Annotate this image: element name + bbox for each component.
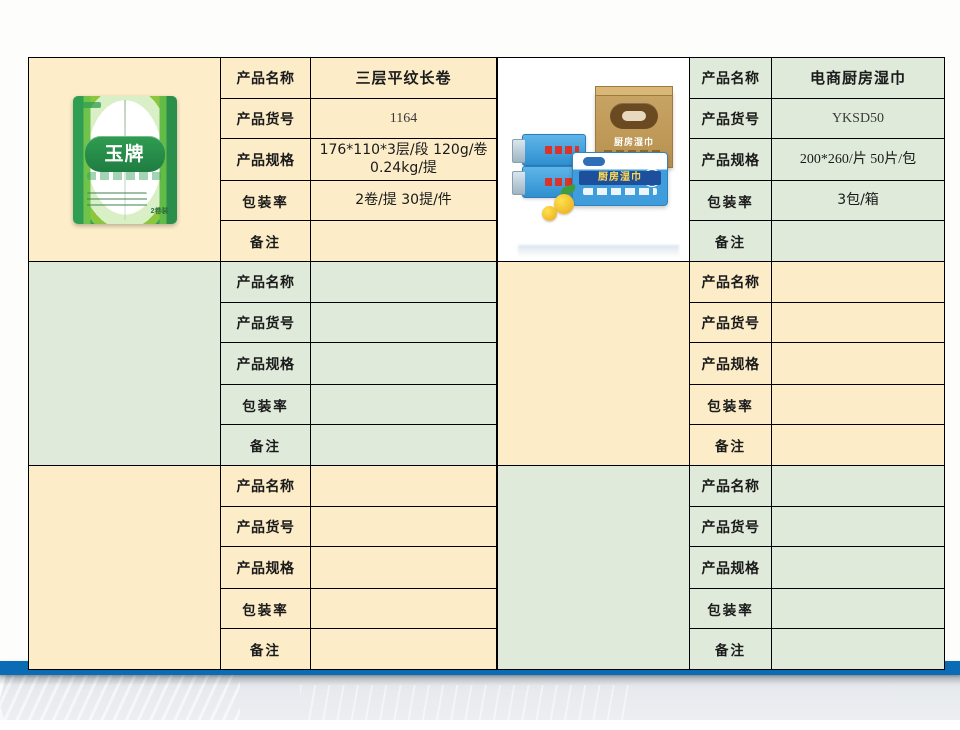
lemon-icon bbox=[554, 194, 574, 214]
value-product-code[interactable] bbox=[772, 303, 945, 343]
value-product-code[interactable] bbox=[772, 507, 945, 547]
pack-subtitle-stripe bbox=[87, 172, 163, 180]
label-packing-rate: 包装率 bbox=[221, 589, 311, 629]
label-product-spec: 产品规格 bbox=[690, 139, 772, 181]
value-product-name[interactable] bbox=[311, 466, 497, 507]
wipes-pack-icon: 厨房湿巾 bbox=[572, 152, 668, 206]
label-packing-rate: 包装率 bbox=[690, 385, 772, 425]
label-product-name: 产品名称 bbox=[221, 58, 311, 99]
label-remark: 备注 bbox=[221, 629, 311, 670]
label-product-name: 产品名称 bbox=[690, 58, 772, 99]
label-product-code: 产品货号 bbox=[221, 507, 311, 547]
label-packing-rate: 包装率 bbox=[221, 385, 311, 425]
value-remark[interactable] bbox=[311, 629, 497, 670]
label-remark: 备注 bbox=[690, 425, 772, 466]
value-packing-rate[interactable] bbox=[772, 589, 945, 629]
value-packing-rate[interactable] bbox=[772, 385, 945, 425]
carton-lid bbox=[595, 86, 673, 96]
carton-label-text: 厨房湿巾 bbox=[596, 135, 672, 148]
table-row: 产品名称 bbox=[29, 262, 497, 303]
label-product-name: 产品名称 bbox=[690, 262, 772, 303]
label-remark: 备注 bbox=[221, 221, 311, 262]
pack-subtitle-stripe bbox=[583, 188, 657, 195]
value-product-code[interactable] bbox=[311, 303, 497, 343]
value-product-code[interactable]: YKSD50 bbox=[772, 99, 945, 139]
pack-count-text: 2卷装 bbox=[151, 206, 169, 216]
label-product-spec: 产品规格 bbox=[221, 343, 311, 385]
value-packing-rate[interactable] bbox=[311, 589, 497, 629]
label-packing-rate: 包装率 bbox=[690, 589, 772, 629]
table-row: 厨房湿巾 厨房湿巾 产品名称 bbox=[498, 58, 945, 99]
pack-brand-badge bbox=[583, 157, 605, 166]
toilet-paper-pack-photo: 玉牌 2卷装 bbox=[29, 58, 220, 261]
value-remark[interactable] bbox=[772, 629, 945, 670]
pack-brand-badge: 玉牌 bbox=[85, 136, 165, 172]
label-product-name: 产品名称 bbox=[690, 466, 772, 507]
label-product-code: 产品货号 bbox=[221, 99, 311, 139]
label-packing-rate: 包装率 bbox=[690, 181, 772, 221]
value-product-name[interactable]: 电商厨房湿巾 bbox=[772, 58, 945, 99]
value-product-spec[interactable] bbox=[311, 547, 497, 589]
value-product-name[interactable] bbox=[772, 466, 945, 507]
carton-brand-badge bbox=[610, 103, 658, 129]
value-product-name[interactable]: 三层平纹长卷 bbox=[311, 58, 497, 99]
label-product-spec: 产品规格 bbox=[690, 343, 772, 385]
kitchen-wet-wipes-photo: 厨房湿巾 厨房湿巾 bbox=[498, 58, 689, 261]
label-remark: 备注 bbox=[690, 629, 772, 670]
value-product-code[interactable]: 1164 bbox=[311, 99, 497, 139]
value-product-spec[interactable] bbox=[772, 343, 945, 385]
label-remark: 备注 bbox=[690, 221, 772, 262]
label-product-name: 产品名称 bbox=[221, 466, 311, 507]
table-row: 产品名称 bbox=[498, 466, 945, 507]
pack-title-text: 厨房湿巾 bbox=[579, 171, 661, 185]
label-product-spec: 产品规格 bbox=[221, 139, 311, 181]
label-packing-rate: 包装率 bbox=[221, 181, 311, 221]
photo-reflection bbox=[518, 245, 679, 257]
value-remark[interactable] bbox=[311, 221, 497, 262]
table-row: 产品名称 bbox=[498, 262, 945, 303]
product-image-cell-left-3[interactable] bbox=[29, 466, 221, 670]
value-product-spec[interactable] bbox=[311, 343, 497, 385]
product-image-cell-left-2[interactable] bbox=[29, 262, 221, 466]
value-product-name[interactable] bbox=[311, 262, 497, 303]
right-product-table: 厨房湿巾 厨房湿巾 产品名称 bbox=[497, 57, 945, 670]
left-product-table: 玉牌 2卷装 产品名称 三层平纹长卷 产品货号 1164 产品规格 176*11… bbox=[28, 57, 497, 670]
value-remark[interactable] bbox=[772, 425, 945, 466]
brand-logo-text: 玉牌 bbox=[85, 136, 165, 172]
value-product-spec[interactable] bbox=[772, 547, 945, 589]
label-product-spec: 产品规格 bbox=[690, 547, 772, 589]
lemon-icon bbox=[542, 206, 557, 221]
toilet-paper-pack-icon: 玉牌 2卷装 bbox=[73, 96, 177, 224]
label-product-code: 产品货号 bbox=[221, 303, 311, 343]
product-image-cell-left-1: 玉牌 2卷装 bbox=[29, 58, 221, 262]
label-product-spec: 产品规格 bbox=[221, 547, 311, 589]
product-image-cell-right-2[interactable] bbox=[498, 262, 690, 466]
table-row: 产品名称 bbox=[29, 466, 497, 507]
label-product-name: 产品名称 bbox=[221, 262, 311, 303]
product-image-cell-right-1: 厨房湿巾 厨房湿巾 bbox=[498, 58, 690, 262]
product-image-cell-right-3[interactable] bbox=[498, 466, 690, 670]
table-row: 玉牌 2卷装 产品名称 三层平纹长卷 bbox=[29, 58, 497, 99]
value-product-name[interactable] bbox=[772, 262, 945, 303]
label-product-code: 产品货号 bbox=[690, 507, 772, 547]
value-packing-rate[interactable]: 2卷/提 30提/件 bbox=[311, 181, 497, 221]
value-remark[interactable] bbox=[772, 221, 945, 262]
label-product-code: 产品货号 bbox=[690, 99, 772, 139]
footer-shadow bbox=[0, 675, 960, 685]
value-remark[interactable] bbox=[311, 425, 497, 466]
pack-fineprint bbox=[87, 192, 147, 208]
value-product-spec[interactable]: 200*260/片 50片/包 bbox=[772, 139, 945, 181]
value-product-spec[interactable]: 176*110*3层/段 120g/卷 0.24kg/提 bbox=[311, 139, 497, 181]
value-packing-rate[interactable] bbox=[311, 385, 497, 425]
pack-top-tab bbox=[83, 102, 101, 108]
value-packing-rate[interactable]: 3包/箱 bbox=[772, 181, 945, 221]
label-remark: 备注 bbox=[221, 425, 311, 466]
value-product-code[interactable] bbox=[311, 507, 497, 547]
label-product-code: 产品货号 bbox=[690, 303, 772, 343]
